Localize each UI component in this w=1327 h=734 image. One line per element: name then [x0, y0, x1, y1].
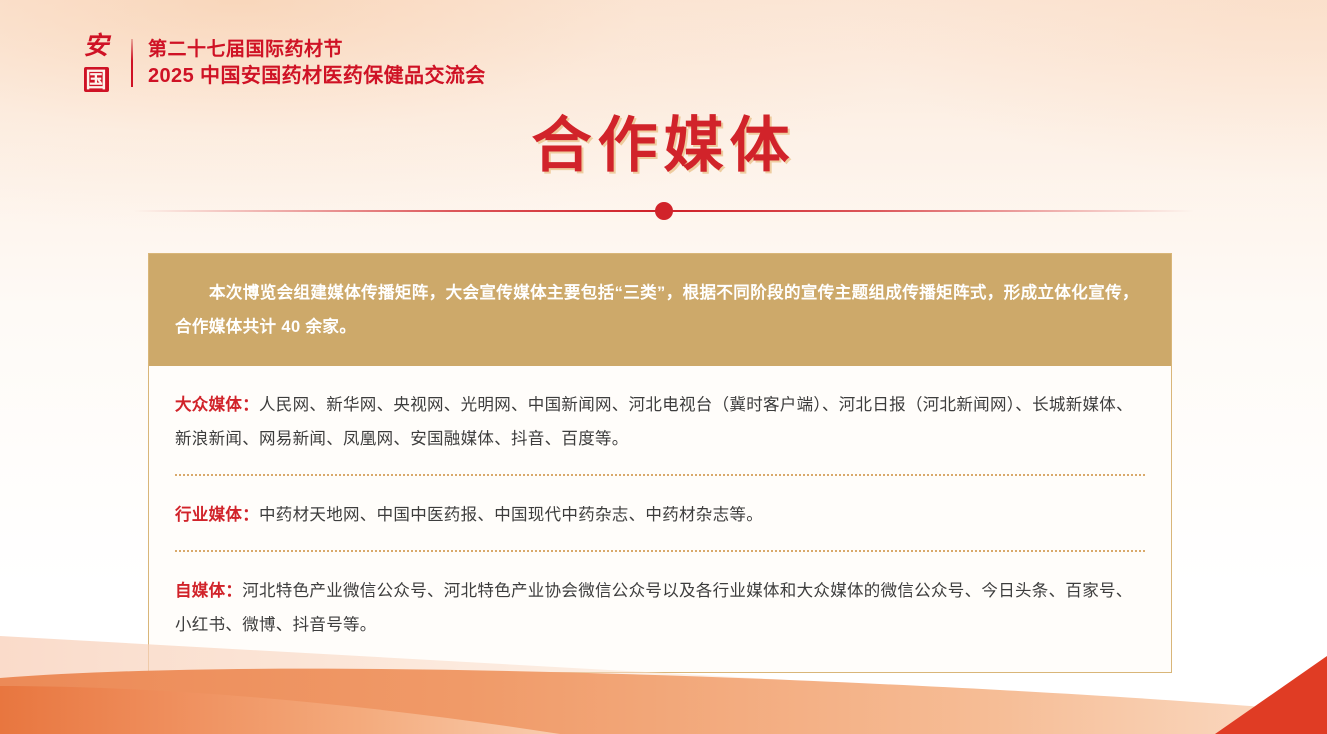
header-title-line2: 2025 中国安国药材医药保健品交流会	[148, 65, 486, 88]
bottom-right-corner-accent	[1207, 646, 1327, 734]
media-group-industry: 行业媒体：中药材天地网、中国中医药报、中国现代中药杂志、中药材杂志等。	[175, 474, 1145, 550]
logo-char-top: 安	[83, 34, 108, 60]
logo-divider	[131, 39, 133, 87]
header-titles: 第二十七届国际药材节 2025 中国安国药材医药保健品交流会	[148, 39, 486, 88]
anguo-logo-icon: 安 国	[74, 34, 118, 92]
media-group-text: 中药材天地网、中国中医药报、中国现代中药杂志、中药材杂志等。	[259, 506, 763, 524]
corner-triangle-icon	[1207, 646, 1327, 734]
page-title: 合作媒体	[0, 112, 1327, 180]
divider-dot-icon	[655, 202, 673, 220]
card-body: 大众媒体：人民网、新华网、央视网、光明网、中国新闻网、河北电视台（冀时客户端）、…	[149, 366, 1171, 660]
header-title-line1: 第二十七届国际药材节	[148, 39, 486, 61]
logo-char-bottom: 国	[84, 67, 109, 92]
event-header: 安 国 第二十七届国际药材节 2025 中国安国药材医药保健品交流会	[74, 32, 486, 94]
card-banner-text: 本次博览会组建媒体传播矩阵，大会宣传媒体主要包括“三类”，根据不同阶段的宣传主题…	[149, 254, 1171, 366]
media-group-text: 河北特色产业微信公众号、河北特色产业协会微信公众号以及各行业媒体和大众媒体的微信…	[175, 582, 1133, 634]
title-divider	[133, 209, 1194, 213]
media-group-label: 自媒体：	[175, 582, 242, 600]
media-card: 本次博览会组建媒体传播矩阵，大会宣传媒体主要包括“三类”，根据不同阶段的宣传主题…	[148, 253, 1172, 673]
media-group-text: 人民网、新华网、央视网、光明网、中国新闻网、河北电视台（冀时客户端）、河北日报（…	[175, 396, 1133, 448]
media-group-self: 自媒体：河北特色产业微信公众号、河北特色产业协会微信公众号以及各行业媒体和大众媒…	[175, 550, 1145, 660]
slide-root: 安 国 第二十七届国际药材节 2025 中国安国药材医药保健品交流会 合作媒体 …	[0, 0, 1327, 734]
media-group-label: 大众媒体：	[175, 396, 259, 414]
media-group-mass: 大众媒体：人民网、新华网、央视网、光明网、中国新闻网、河北电视台（冀时客户端）、…	[175, 366, 1145, 474]
media-group-label: 行业媒体：	[175, 506, 259, 524]
